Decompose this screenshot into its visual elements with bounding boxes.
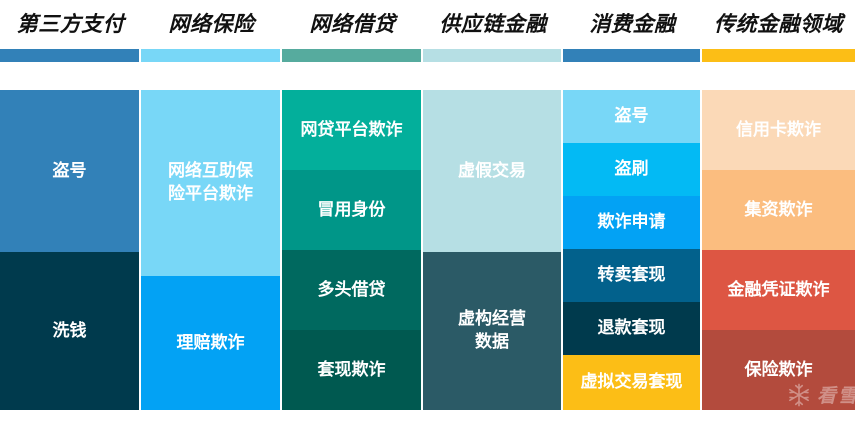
- fraud-cell-label: 虚拟交易套现: [581, 371, 683, 394]
- category-strip-3: [282, 49, 421, 62]
- fraud-cell[interactable]: 虚构经营数据: [423, 252, 561, 410]
- fraud-cell-label: 虚假交易: [458, 160, 526, 183]
- fraud-cell-label: 冒用身份: [318, 199, 386, 222]
- fraud-cell-label: 欺诈申请: [598, 211, 666, 234]
- category-strip-4: [423, 49, 561, 62]
- column-internet-insurance: 网络互助保险平台欺诈理赔欺诈: [141, 90, 280, 410]
- fraud-cell[interactable]: 保险欺诈: [702, 330, 855, 410]
- category-header-4: 供应链金融: [423, 0, 563, 46]
- category-header-1: 第三方支付: [0, 0, 141, 46]
- fraud-cell-label: 转卖套现: [598, 264, 666, 287]
- fraud-cell[interactable]: 多头借贷: [282, 250, 421, 330]
- fraud-type-grid: 盗号洗钱网络互助保险平台欺诈理赔欺诈网贷平台欺诈冒用身份多头借贷套现欺诈虚假交易…: [0, 90, 865, 410]
- category-header-2: 网络保险: [141, 0, 282, 46]
- fraud-cell[interactable]: 盗号: [0, 90, 139, 252]
- fraud-cell[interactable]: 转卖套现: [563, 249, 700, 302]
- fraud-cell[interactable]: 盗号: [563, 90, 700, 143]
- fraud-cell-label: 盗刷: [615, 158, 649, 181]
- column-consumer-finance: 盗号盗刷欺诈申请转卖套现退款套现虚拟交易套现: [563, 90, 700, 410]
- fraud-taxonomy-diagram: 第三方支付网络保险网络借贷供应链金融消费金融传统金融领域 盗号洗钱网络互助保险平…: [0, 0, 865, 441]
- fraud-cell-label: 套现欺诈: [318, 359, 386, 382]
- fraud-cell-label: 信用卡欺诈: [736, 119, 821, 142]
- fraud-cell[interactable]: 信用卡欺诈: [702, 90, 855, 170]
- fraud-cell[interactable]: 网络互助保险平台欺诈: [141, 90, 280, 276]
- fraud-cell[interactable]: 网贷平台欺诈: [282, 90, 421, 170]
- category-strip-5: [563, 49, 700, 62]
- fraud-cell[interactable]: 金融凭证欺诈: [702, 250, 855, 330]
- fraud-cell[interactable]: 欺诈申请: [563, 196, 700, 249]
- fraud-cell-label: 盗号: [53, 160, 87, 183]
- fraud-cell-label: 洗钱: [53, 320, 87, 343]
- fraud-cell[interactable]: 洗钱: [0, 252, 139, 410]
- fraud-cell-label: 理赔欺诈: [177, 332, 245, 355]
- fraud-cell[interactable]: 集资欺诈: [702, 170, 855, 250]
- column-online-lending: 网贷平台欺诈冒用身份多头借贷套现欺诈: [282, 90, 421, 410]
- category-strip-2: [141, 49, 280, 62]
- category-header-row: 第三方支付网络保险网络借贷供应链金融消费金融传统金融领域: [0, 0, 865, 46]
- category-header-6: 传统金融领域: [702, 0, 855, 46]
- category-header-5: 消费金融: [563, 0, 702, 46]
- fraud-cell[interactable]: 冒用身份: [282, 170, 421, 250]
- category-color-strip-row: [0, 49, 865, 62]
- fraud-cell-label: 网贷平台欺诈: [301, 119, 403, 142]
- fraud-cell[interactable]: 盗刷: [563, 143, 700, 196]
- column-traditional-finance: 信用卡欺诈集资欺诈金融凭证欺诈保险欺诈: [702, 90, 855, 410]
- category-header-3: 网络借贷: [282, 0, 423, 46]
- fraud-cell-label: 虚构经营数据: [458, 308, 526, 354]
- column-third-party-payment: 盗号洗钱: [0, 90, 139, 410]
- column-supply-chain-finance: 虚假交易虚构经营数据: [423, 90, 561, 410]
- fraud-cell[interactable]: 退款套现: [563, 302, 700, 355]
- fraud-cell-label: 盗号: [615, 105, 649, 128]
- fraud-cell-label: 集资欺诈: [745, 199, 813, 222]
- fraud-cell-label: 金融凭证欺诈: [728, 279, 830, 302]
- category-strip-6: [702, 49, 855, 62]
- fraud-cell-label: 退款套现: [598, 317, 666, 340]
- fraud-cell[interactable]: 虚假交易: [423, 90, 561, 252]
- fraud-cell[interactable]: 套现欺诈: [282, 330, 421, 410]
- fraud-cell-label: 多头借贷: [318, 279, 386, 302]
- fraud-cell[interactable]: 理赔欺诈: [141, 276, 280, 410]
- fraud-cell-label: 保险欺诈: [745, 359, 813, 382]
- category-strip-1: [0, 49, 139, 62]
- fraud-cell-label: 网络互助保险平台欺诈: [168, 160, 253, 206]
- fraud-cell[interactable]: 虚拟交易套现: [563, 355, 700, 410]
